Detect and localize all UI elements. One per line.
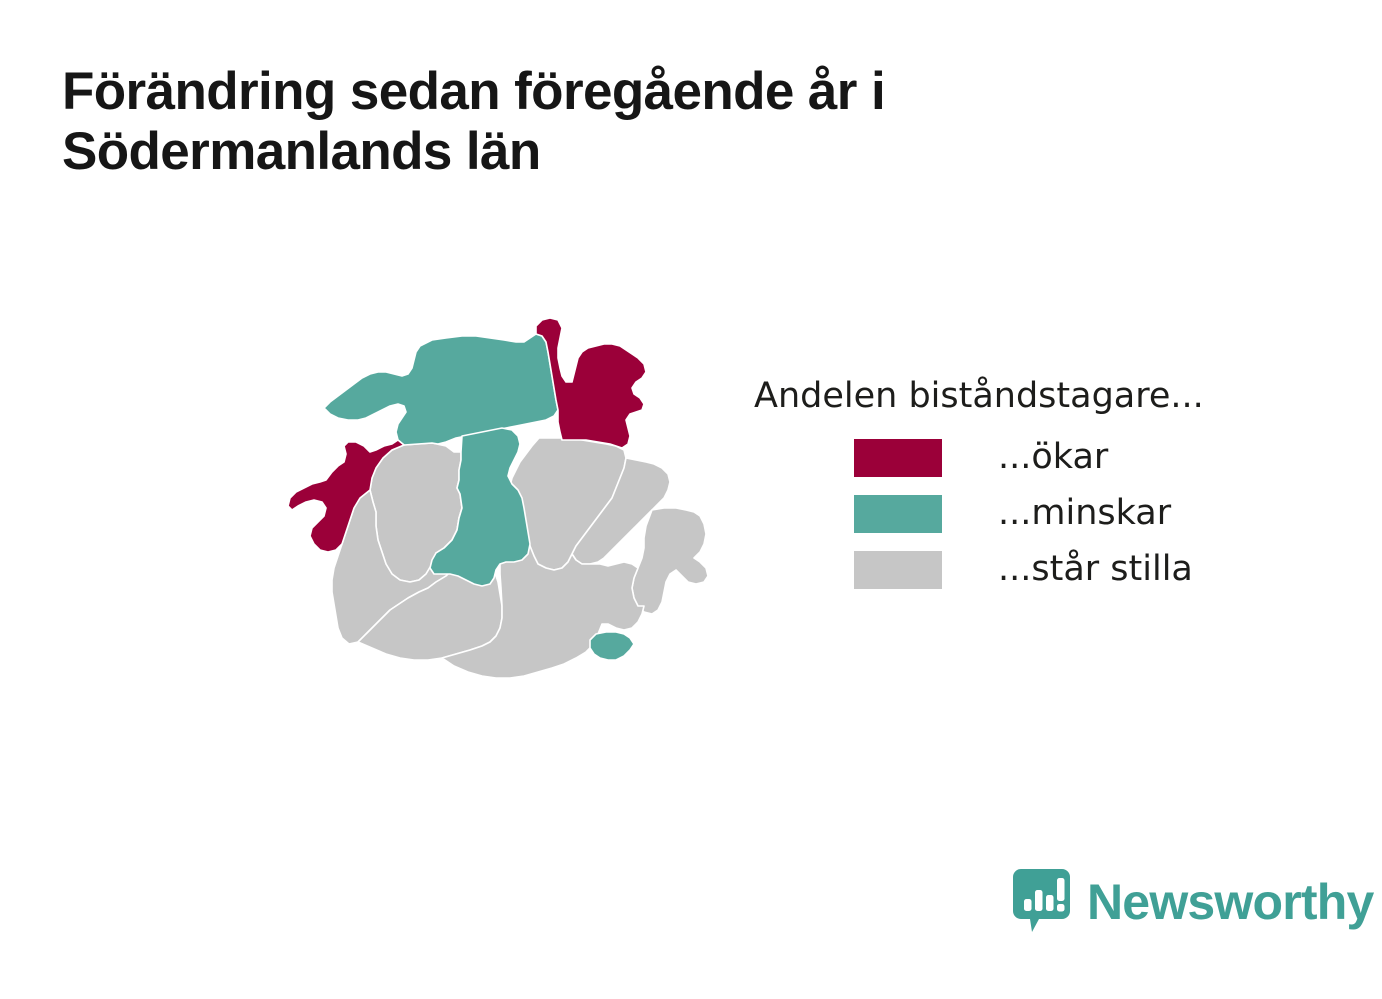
- legend-label-unchanged: ...står stilla: [998, 552, 1193, 587]
- newsworthy-speech-bubble-chart-icon: [1013, 869, 1070, 933]
- legend-item-unchanged[interactable]: ...står stilla: [754, 542, 1274, 598]
- legend-title: Andelen biståndstagare...: [754, 378, 1274, 416]
- map-svg: [286, 312, 756, 702]
- legend-swatch-increase: [854, 439, 942, 477]
- legend-item-decrease[interactable]: ...minskar: [754, 486, 1274, 542]
- legend-swatch-unchanged: [854, 551, 942, 589]
- map-legend: Andelen biståndstagare... ...ökar ...min…: [754, 378, 1274, 598]
- region-north-west-area[interactable]: [324, 334, 558, 445]
- region-far-east-area[interactable]: [632, 508, 708, 614]
- newsworthy-wordmark: Newsworthy: [1087, 877, 1374, 927]
- legend-label-decrease: ...minskar: [998, 496, 1171, 531]
- newsworthy-logo[interactable]: Newsworthy: [1013, 869, 1374, 933]
- choropleth-map: [286, 312, 756, 702]
- region-north-east-area[interactable]: [536, 318, 646, 448]
- legend-swatch-decrease: [854, 495, 942, 533]
- region-coastal-island-area[interactable]: [590, 632, 634, 660]
- page-title: Förändring sedan föregående år i Söderma…: [62, 62, 1182, 183]
- legend-label-increase: ...ökar: [998, 440, 1108, 475]
- legend-item-increase[interactable]: ...ökar: [754, 430, 1274, 486]
